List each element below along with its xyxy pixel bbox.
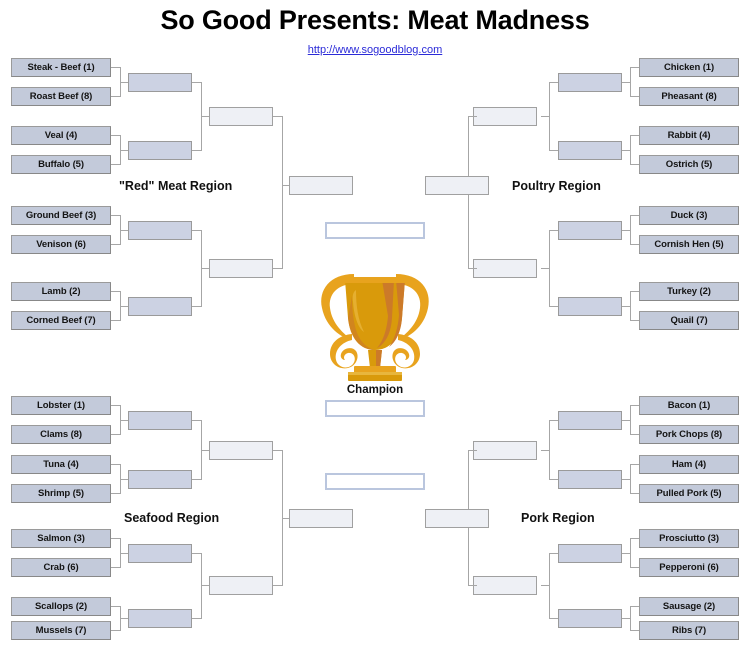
connector — [111, 606, 120, 607]
team-box[interactable]: Sausage (2) — [639, 597, 739, 616]
round2-slot[interactable] — [128, 141, 192, 160]
connector — [120, 479, 128, 480]
connector — [549, 618, 558, 619]
round3-slot[interactable] — [209, 576, 273, 595]
connector — [282, 116, 283, 269]
team-box[interactable]: Venison (6) — [11, 235, 111, 254]
round2-slot[interactable] — [128, 73, 192, 92]
team-box[interactable]: Steak - Beef (1) — [11, 58, 111, 77]
connector — [630, 215, 639, 216]
connector — [273, 268, 282, 269]
round2-slot[interactable] — [128, 297, 192, 316]
team-box[interactable]: Pork Chops (8) — [639, 425, 739, 444]
region-label-pork: Pork Region — [521, 511, 595, 525]
team-box[interactable]: Ostrich (5) — [639, 155, 739, 174]
team-box[interactable]: Pheasant (8) — [639, 87, 739, 106]
round3-slot[interactable] — [473, 441, 537, 460]
connector — [630, 215, 631, 245]
connector — [541, 450, 549, 451]
connector — [120, 306, 128, 307]
team-box[interactable]: Duck (3) — [639, 206, 739, 225]
bracket-canvas: So Good Presents: Meat Madness http://ww… — [0, 0, 750, 646]
connector — [468, 450, 477, 451]
connector — [630, 606, 631, 631]
trophy-icon — [312, 256, 438, 382]
team-box[interactable]: Buffalo (5) — [11, 155, 111, 174]
team-box[interactable]: Shrimp (5) — [11, 484, 111, 503]
connector — [201, 116, 209, 117]
team-box[interactable]: Turkey (2) — [639, 282, 739, 301]
round3-slot[interactable] — [209, 107, 273, 126]
round2-slot[interactable] — [128, 221, 192, 240]
connector — [630, 434, 639, 435]
team-box[interactable]: Tuna (4) — [11, 455, 111, 474]
connector — [622, 420, 630, 421]
connector — [111, 215, 120, 216]
connector — [120, 230, 128, 231]
connector — [541, 116, 549, 117]
connector — [120, 420, 128, 421]
connector — [192, 306, 201, 307]
connector — [622, 82, 630, 83]
connector — [273, 450, 282, 451]
team-box[interactable]: Bacon (1) — [639, 396, 739, 415]
team-box[interactable]: Crab (6) — [11, 558, 111, 577]
round2-slot[interactable] — [558, 221, 622, 240]
connector — [630, 291, 639, 292]
connector — [549, 230, 550, 307]
team-box[interactable]: Scallops (2) — [11, 597, 111, 616]
connector — [282, 518, 289, 519]
connector — [630, 464, 639, 465]
team-box[interactable]: Ground Beef (3) — [11, 206, 111, 225]
round2-slot[interactable] — [128, 544, 192, 563]
final-four-slot[interactable] — [325, 222, 425, 239]
connector — [111, 434, 120, 435]
championship-slot[interactable] — [325, 400, 425, 417]
team-box[interactable]: Chicken (1) — [639, 58, 739, 77]
team-box[interactable]: Cornish Hen (5) — [639, 235, 739, 254]
team-box[interactable]: Lamb (2) — [11, 282, 111, 301]
connector — [549, 420, 550, 480]
connector — [111, 567, 120, 568]
connector — [630, 291, 631, 321]
team-box[interactable]: Quail (7) — [639, 311, 739, 330]
round2-slot[interactable] — [128, 411, 192, 430]
connector — [549, 230, 558, 231]
connector — [630, 464, 631, 494]
connector — [192, 150, 201, 151]
connector — [630, 405, 631, 435]
connector — [273, 116, 282, 117]
regional-final-slot[interactable] — [289, 509, 353, 528]
connector — [120, 618, 128, 619]
connector — [630, 630, 639, 631]
connector — [192, 230, 201, 231]
page-title: So Good Presents: Meat Madness — [0, 5, 750, 36]
round3-slot[interactable] — [209, 259, 273, 278]
team-box[interactable]: Clams (8) — [11, 425, 111, 444]
connector — [111, 464, 120, 465]
connector — [630, 135, 631, 165]
connector — [111, 244, 120, 245]
connector — [622, 306, 630, 307]
team-box[interactable]: Veal (4) — [11, 126, 111, 145]
regional-final-slot[interactable] — [425, 509, 489, 528]
connector — [111, 320, 120, 321]
team-box[interactable]: Mussels (7) — [11, 621, 111, 640]
connector — [273, 585, 282, 586]
connector — [622, 150, 630, 151]
connector — [622, 618, 630, 619]
round2-slot[interactable] — [558, 470, 622, 489]
connector — [622, 230, 630, 231]
region-label-red-meat: "Red" Meat Region — [119, 179, 232, 193]
connector — [630, 567, 639, 568]
connector — [282, 185, 289, 186]
connector — [630, 538, 631, 568]
connector — [630, 135, 639, 136]
connector — [201, 585, 209, 586]
round2-slot[interactable] — [558, 411, 622, 430]
blog-url-link[interactable]: http://www.sogoodblog.com — [0, 44, 750, 56]
connector — [111, 135, 120, 136]
connector — [111, 538, 120, 539]
connector — [111, 164, 120, 165]
connector — [549, 150, 558, 151]
connector — [549, 553, 558, 554]
connector — [120, 553, 128, 554]
connector — [630, 405, 639, 406]
regional-final-slot[interactable] — [289, 176, 353, 195]
champion-label: Champion — [325, 384, 425, 396]
round3-slot[interactable] — [473, 576, 537, 595]
round2-slot[interactable] — [558, 141, 622, 160]
round2-slot[interactable] — [128, 609, 192, 628]
connector — [630, 96, 639, 97]
connector — [192, 553, 201, 554]
connector — [468, 585, 477, 586]
team-box[interactable]: Ribs (7) — [639, 621, 739, 640]
connector — [630, 320, 639, 321]
round2-slot[interactable] — [128, 470, 192, 489]
connector — [468, 116, 477, 117]
connector — [630, 67, 639, 68]
connector — [201, 553, 202, 619]
connector — [630, 493, 639, 494]
connector — [630, 244, 639, 245]
connector — [192, 618, 201, 619]
connector — [630, 164, 639, 165]
connector — [549, 82, 550, 151]
round3-slot[interactable] — [209, 441, 273, 460]
round3-slot[interactable] — [473, 107, 537, 126]
connector — [192, 420, 201, 421]
connector — [541, 268, 549, 269]
connector — [541, 585, 549, 586]
round2-slot[interactable] — [558, 544, 622, 563]
connector — [201, 450, 209, 451]
connector — [111, 405, 120, 406]
team-box[interactable]: Prosciutto (3) — [639, 529, 739, 548]
connector — [120, 82, 128, 83]
connector — [111, 630, 120, 631]
round2-slot[interactable] — [558, 297, 622, 316]
round2-slot[interactable] — [558, 73, 622, 92]
connector — [549, 479, 558, 480]
round2-slot[interactable] — [558, 609, 622, 628]
team-box[interactable]: Rabbit (4) — [639, 126, 739, 145]
connector — [630, 538, 639, 539]
team-box[interactable]: Pulled Pork (5) — [639, 484, 739, 503]
region-label-poultry: Poultry Region — [512, 179, 601, 193]
team-box[interactable]: Salmon (3) — [11, 529, 111, 548]
team-box[interactable]: Pepperoni (6) — [639, 558, 739, 577]
team-box[interactable]: Lobster (1) — [11, 396, 111, 415]
team-box[interactable]: Roast Beef (8) — [11, 87, 111, 106]
round3-slot[interactable] — [473, 259, 537, 278]
connector — [549, 420, 558, 421]
regional-final-slot[interactable] — [425, 176, 489, 195]
connector — [549, 553, 550, 619]
connector — [111, 96, 120, 97]
connector — [468, 268, 477, 269]
connector — [549, 306, 558, 307]
connector — [120, 150, 128, 151]
connector — [549, 82, 558, 83]
team-box[interactable]: Ham (4) — [639, 455, 739, 474]
region-label-seafood: Seafood Region — [124, 511, 219, 525]
connector — [111, 67, 120, 68]
connector — [192, 479, 201, 480]
connector — [630, 606, 639, 607]
connector — [622, 553, 630, 554]
connector — [622, 479, 630, 480]
connector — [111, 493, 120, 494]
team-box[interactable]: Corned Beef (7) — [11, 311, 111, 330]
connector — [111, 291, 120, 292]
connector — [192, 82, 201, 83]
final-four-slot[interactable] — [325, 473, 425, 490]
connector — [630, 67, 631, 97]
connector — [201, 268, 209, 269]
